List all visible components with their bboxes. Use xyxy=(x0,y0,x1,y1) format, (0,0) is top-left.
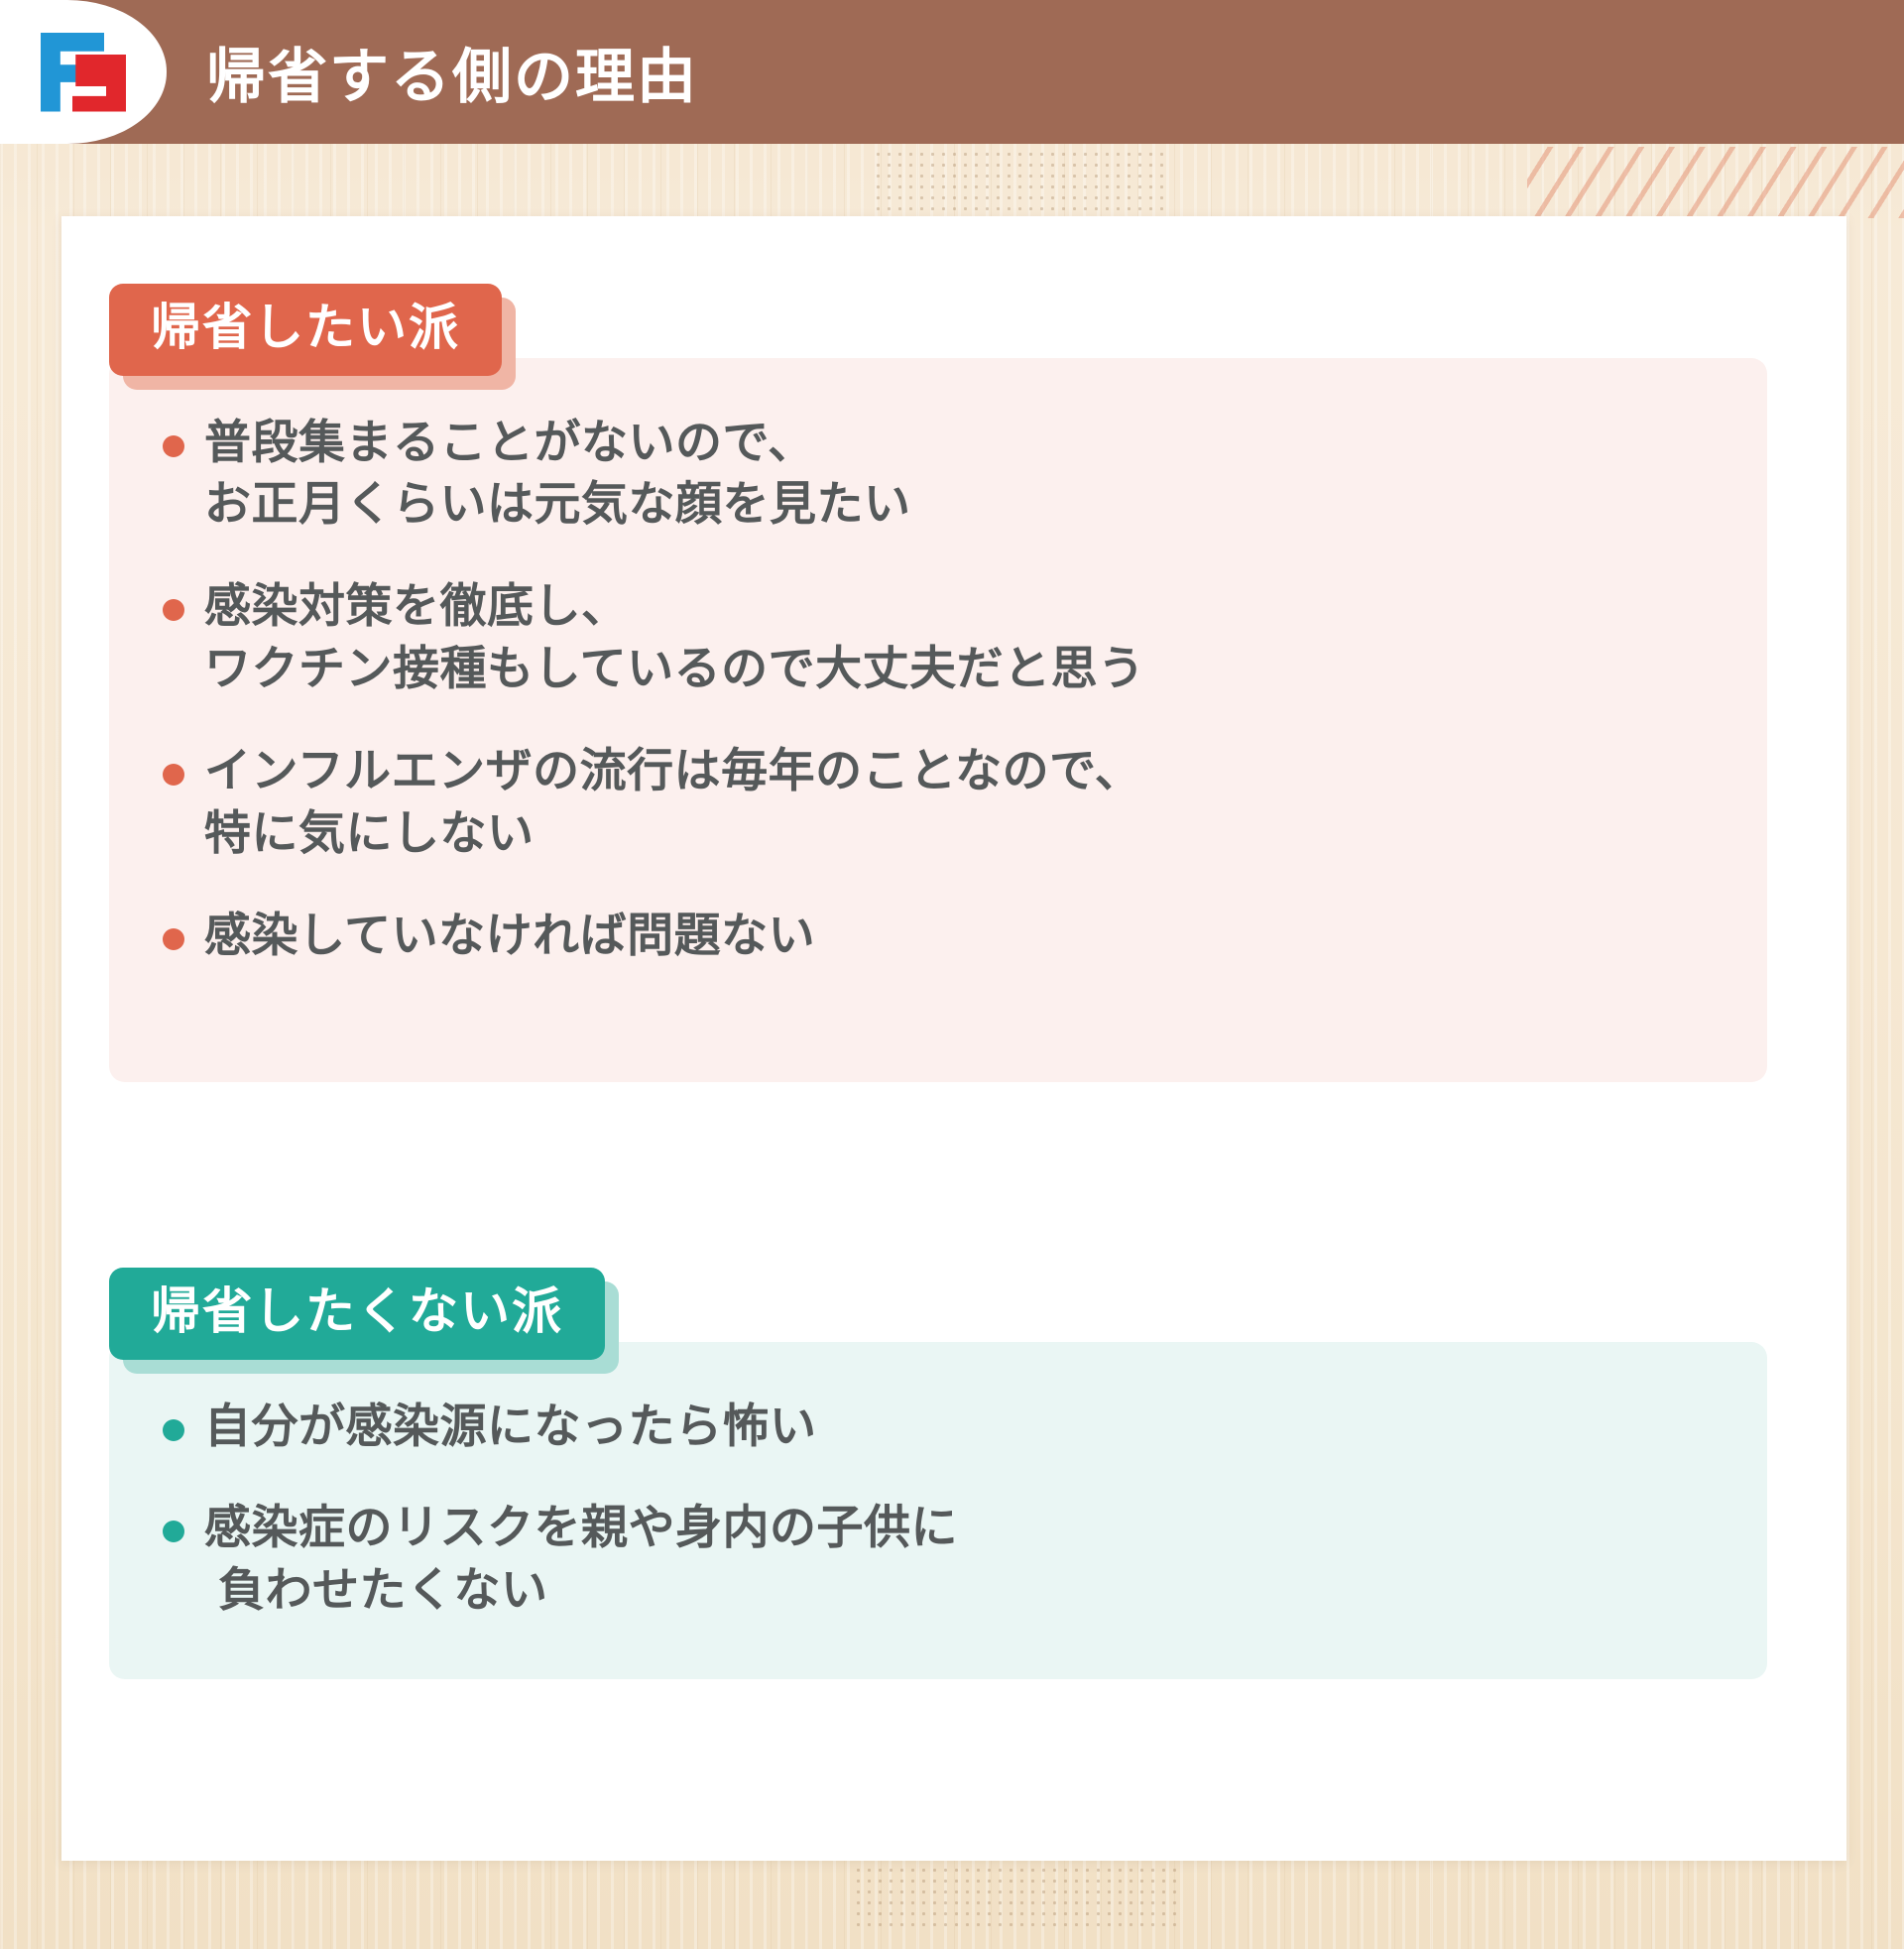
dot-pattern-top xyxy=(873,149,1170,218)
list-item: 自分が感染源になったら怖い xyxy=(157,1396,1727,1458)
bullet-list-want: 普段集まることがないので、 お正月くらいは元気な顔を見たい 感染対策を徹底し、 … xyxy=(157,412,1727,968)
bullet-line-1: 普段集まることがないので、 xyxy=(204,416,815,468)
bullet-list-dont-want: 自分が感染源になったら怖い 感染症のリスクを親や身内の子供に 負わせたくない xyxy=(157,1396,1727,1623)
page-header: 帰省する側の理由 xyxy=(0,0,1904,144)
bullet-line-2: お正月くらいは元気な顔を見たい xyxy=(204,473,1727,536)
section-badge-want: 帰省したい派 xyxy=(109,284,502,376)
list-item: インフルエンザの流行は毎年のことなので、 特に気にしない xyxy=(157,740,1727,865)
list-item: 感染症のリスクを親や身内の子供に 負わせたくない xyxy=(157,1497,1727,1622)
infographic-page: 帰省する側の理由 帰省したい派 普段集まることがないので、 お正月くらいは元気な… xyxy=(0,0,1904,1949)
hatch-pattern xyxy=(1527,147,1904,218)
bullet-line-1: 感染症のリスクを親や身内の子供に xyxy=(204,1501,958,1553)
bullet-line-1: インフルエンザの流行は毎年のことなので、 xyxy=(204,744,1141,796)
list-item: 感染していなければ問題ない xyxy=(157,905,1727,967)
section-dont-want-to-return: 帰省したくない派 自分が感染源になったら怖い 感染症のリスクを親や身内の子供に … xyxy=(61,1268,1846,1679)
page-title: 帰省する側の理由 xyxy=(206,29,698,115)
dot-pattern-bottom xyxy=(853,1865,1180,1926)
panel-dont-want: 自分が感染源になったら怖い 感染症のリスクを親や身内の子供に 負わせたくない xyxy=(109,1342,1767,1679)
fp-logo-icon xyxy=(41,33,126,112)
bullet-line-1: 感染していなければ問題ない xyxy=(204,909,815,961)
bullet-line-2: 特に気にしない xyxy=(204,802,1727,865)
bullet-line-1: 感染対策を徹底し、 xyxy=(204,579,629,632)
logo-plate xyxy=(0,0,167,144)
list-item: 感染対策を徹底し、 ワクチン接種もしているので大丈夫だと思う xyxy=(157,575,1727,700)
logo-red-p-shape xyxy=(72,55,126,112)
badge-wrap-dont-want: 帰省したくない派 xyxy=(109,1268,605,1360)
content-card: 帰省したい派 普段集まることがないので、 お正月くらいは元気な顔を見たい 感染対… xyxy=(61,216,1846,1861)
section-want-to-return: 帰省したい派 普段集まることがないので、 お正月くらいは元気な顔を見たい 感染対… xyxy=(61,284,1846,1082)
bullet-line-2: ワクチン接種もしているので大丈夫だと思う xyxy=(204,638,1727,700)
panel-want: 普段集まることがないので、 お正月くらいは元気な顔を見たい 感染対策を徹底し、 … xyxy=(109,358,1767,1082)
badge-wrap-want: 帰省したい派 xyxy=(109,284,502,376)
bullet-line-1: 自分が感染源になったら怖い xyxy=(204,1400,817,1452)
list-item: 普段集まることがないので、 お正月くらいは元気な顔を見たい xyxy=(157,412,1727,537)
section-badge-dont-want: 帰省したくない派 xyxy=(109,1268,605,1360)
bullet-line-2: 負わせたくない xyxy=(204,1559,1727,1622)
